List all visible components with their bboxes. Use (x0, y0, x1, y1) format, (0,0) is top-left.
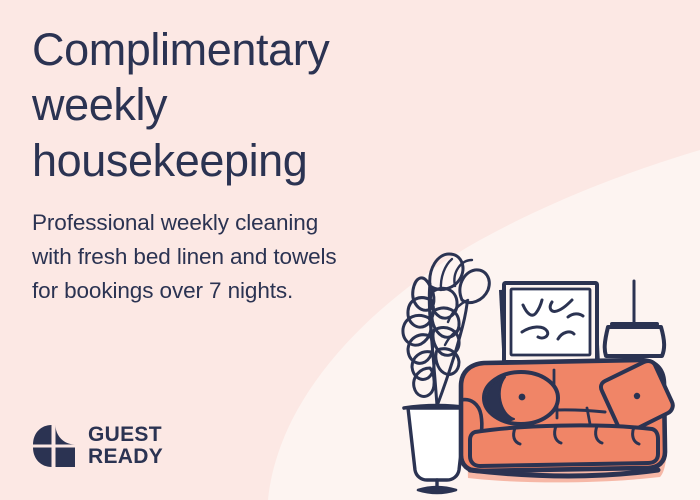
pot-foot (418, 487, 456, 493)
mark-quadrant-top-left (33, 425, 52, 445)
frame-inner (511, 289, 590, 355)
mark-quadrant-bottom-right (56, 448, 76, 468)
square-pillow-button (634, 393, 640, 399)
guestready-quadrant-mark (32, 424, 76, 468)
description-text: Professional weekly cleaning with fresh … (32, 206, 452, 309)
lamp-shade (605, 327, 664, 356)
framed-wall-art (499, 283, 600, 369)
copy-block: Complimentary weekly housekeeping Profes… (32, 22, 452, 309)
plant-leaf (403, 315, 431, 345)
plant-pot (408, 408, 466, 480)
page-title: Complimentary weekly housekeeping (32, 22, 452, 188)
mark-quadrant-bottom-left (33, 448, 52, 468)
promo-banner: Complimentary weekly housekeeping Profes… (0, 0, 700, 500)
logo-wordmark: GUEST READY (88, 424, 163, 467)
round-cushion-button (519, 394, 526, 401)
plant-leaf (408, 335, 433, 363)
sofa-seat (470, 425, 658, 466)
guestready-logo: GUEST READY (32, 424, 163, 468)
coral-sofa (461, 360, 673, 482)
plant-leaf (414, 368, 434, 396)
plant-leaf-top (460, 270, 489, 303)
